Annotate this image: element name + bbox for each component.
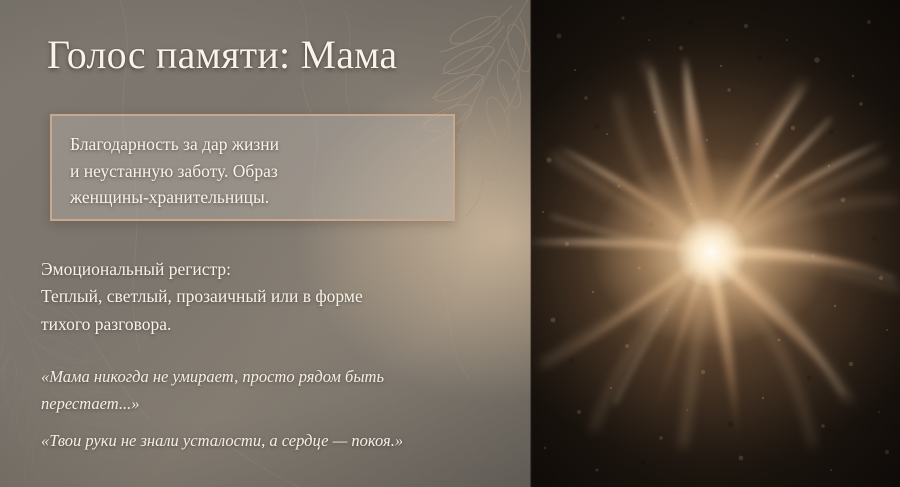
emotional-register-block: Эмоциональный регистр: Теплый, светлый, … [41, 256, 363, 338]
left-content-panel: Голос памяти: Мама Благодарность за дар … [0, 0, 531, 487]
callout-line: Благодарность за дар жизни [70, 131, 441, 158]
starburst-artwork [531, 0, 900, 487]
quote-line: «Твои руки не знали усталости, а сердце … [41, 428, 403, 455]
callout-text: Благодарность за дар жизни и неустанную … [70, 131, 441, 211]
register-heading: Эмоциональный регистр: [41, 256, 363, 283]
callout-line: и неустанную заботу. Образ [70, 158, 441, 185]
callout-box: Благодарность за дар жизни и неустанную … [50, 114, 455, 221]
quotation-second: «Твои руки не знали усталости, а сердце … [41, 428, 403, 455]
register-line: тихого разговора. [41, 311, 363, 338]
page-title: Голос памяти: Мама [47, 33, 397, 77]
quote-line: «Мама никогда не умирает, просто рядом б… [41, 364, 384, 391]
starburst-light-rays-image [531, 0, 900, 487]
quotation-first: «Мама никогда не умирает, просто рядом б… [41, 364, 384, 417]
callout-line: женщины-хранительницы. [70, 184, 441, 211]
quote-line: перестает...» [41, 391, 384, 418]
panel-divider [530, 0, 532, 487]
slide-root: Голос памяти: Мама Благодарность за дар … [0, 0, 900, 487]
register-line: Теплый, светлый, прозаичный или в форме [41, 283, 363, 310]
